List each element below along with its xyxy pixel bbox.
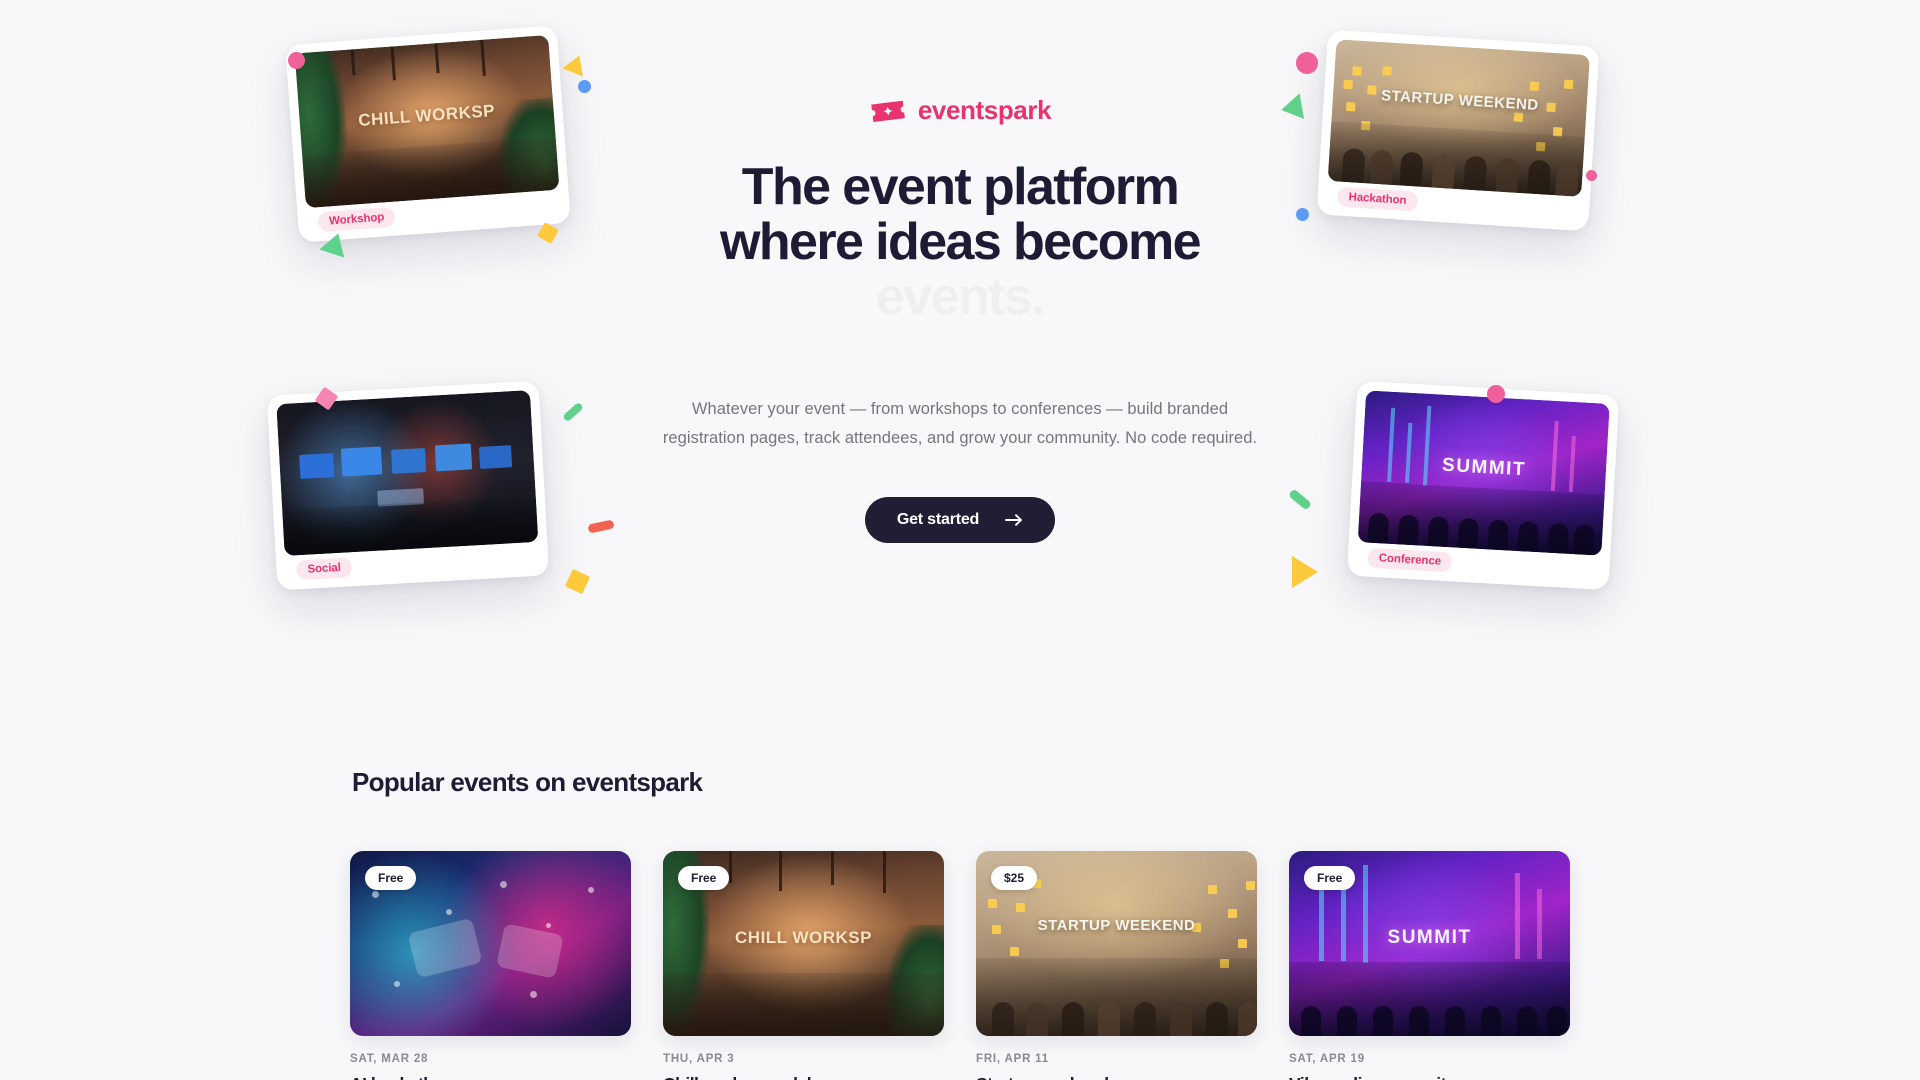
headline-line-3: events. — [650, 270, 1270, 325]
social-photo — [276, 390, 538, 556]
floating-card-workshop[interactable]: CHILL WORKSP Workshop — [285, 25, 571, 242]
confetti-square-yellow-2 — [565, 569, 590, 594]
event-card[interactable]: Free SAT, MAR 28 AI hackathon — [350, 851, 631, 1080]
event-name: Startup weekend — [976, 1074, 1257, 1080]
event-thumbnail: CHILL WORKSP Free — [663, 851, 944, 1036]
event-name: Vibe coding summit — [1289, 1074, 1570, 1080]
confetti-dot-blue — [578, 80, 591, 93]
event-name: Chill workspace lab — [663, 1074, 944, 1080]
hackathon-photo-caption: STARTUP WEEKEND — [1329, 39, 1590, 179]
confetti-triangle-green-2 — [1279, 93, 1304, 122]
event-price-badge: Free — [365, 866, 416, 890]
get-started-button[interactable]: Get started — [865, 497, 1055, 543]
event-price-badge: Free — [1304, 866, 1355, 890]
brand-logo[interactable]: eventspark — [650, 95, 1270, 126]
hackathon-photo: STARTUP WEEKEND — [1328, 39, 1590, 197]
floating-card-label-conference: Conference — [1367, 548, 1452, 573]
event-card[interactable]: STARTUP WEEKEND $25 FRI, APR 11 Startup … — [976, 851, 1257, 1080]
confetti-triangle-yellow — [562, 52, 589, 77]
confetti-dash-green-2 — [1288, 488, 1312, 510]
floating-card-social[interactable]: Social — [267, 381, 549, 591]
brand-name: eventspark — [918, 95, 1051, 126]
arrow-right-icon — [1005, 513, 1023, 527]
event-date: SAT, MAR 28 — [350, 1053, 631, 1065]
event-date: SAT, APR 19 — [1289, 1053, 1570, 1065]
headline-line-2: where ideas become — [650, 215, 1270, 270]
floating-card-hackathon[interactable]: STARTUP WEEKEND Hackathon — [1316, 30, 1599, 232]
event-thumbnail: SUMMIT Free — [1289, 851, 1570, 1036]
floating-card-label-social: Social — [296, 557, 352, 580]
events-grid: Free SAT, MAR 28 AI hackathon CHILL WORK… — [350, 851, 1570, 1080]
conference-photo: SUMMIT — [1358, 390, 1610, 555]
confetti-dot-blue-2 — [1296, 208, 1309, 221]
headline-line-1: The event platform — [650, 160, 1270, 215]
confetti-dot-pink-2 — [1296, 52, 1318, 74]
section-title: Popular events on eventspark — [350, 735, 1570, 798]
hero-content: eventspark The event platform where idea… — [650, 95, 1270, 543]
event-name: AI hackathon — [350, 1074, 631, 1080]
popular-events-section: Popular events on eventspark — [0, 735, 1920, 1080]
event-thumbnail: STARTUP WEEKEND $25 — [976, 851, 1257, 1036]
floating-card-conference[interactable]: SUMMIT Conference — [1347, 381, 1619, 590]
confetti-square-yellow — [537, 222, 559, 244]
floating-card-photo: STARTUP WEEKEND — [1328, 39, 1590, 197]
event-card[interactable]: CHILL WORKSP Free THU, APR 3 Chill works… — [663, 851, 944, 1080]
floating-card-photo: SUMMIT — [1358, 390, 1610, 555]
floating-card-photo — [276, 390, 538, 556]
ticket-icon — [869, 97, 907, 125]
confetti-triangle-yellow-2 — [1292, 556, 1318, 588]
confetti-dash-red — [587, 519, 614, 533]
floating-card-label-hackathon: Hackathon — [1337, 187, 1418, 212]
confetti-dash-green — [562, 402, 584, 423]
landing-page: CHILL WORKSP Workshop — [0, 0, 1920, 1080]
confetti-dot-pink-4 — [1487, 385, 1505, 403]
floating-card-label-workshop: Workshop — [317, 207, 395, 233]
workshop-photo: CHILL WORKSP — [295, 35, 560, 208]
event-date: FRI, APR 11 — [976, 1053, 1257, 1065]
confetti-dot-pink-3 — [1586, 170, 1597, 181]
get-started-label: Get started — [897, 511, 979, 529]
hero-subtext: Whatever your event — from workshops to … — [650, 395, 1270, 452]
workshop-photo-caption: CHILL WORKSP — [295, 35, 559, 202]
event-price-badge: Free — [678, 866, 729, 890]
event-date: THU, APR 3 — [663, 1053, 944, 1065]
page-title: The event platform where ideas become ev… — [650, 160, 1270, 325]
event-price-badge: $25 — [991, 866, 1037, 890]
event-thumbnail: Free — [350, 851, 631, 1036]
hero-section: CHILL WORKSP Workshop — [0, 0, 1920, 735]
event-card[interactable]: SUMMIT Free SAT, APR 19 Vibe coding summ… — [1289, 851, 1570, 1080]
conference-photo-caption: SUMMIT — [1358, 390, 1610, 549]
floating-card-photo: CHILL WORKSP — [295, 35, 560, 208]
confetti-dot-pink — [288, 52, 305, 69]
